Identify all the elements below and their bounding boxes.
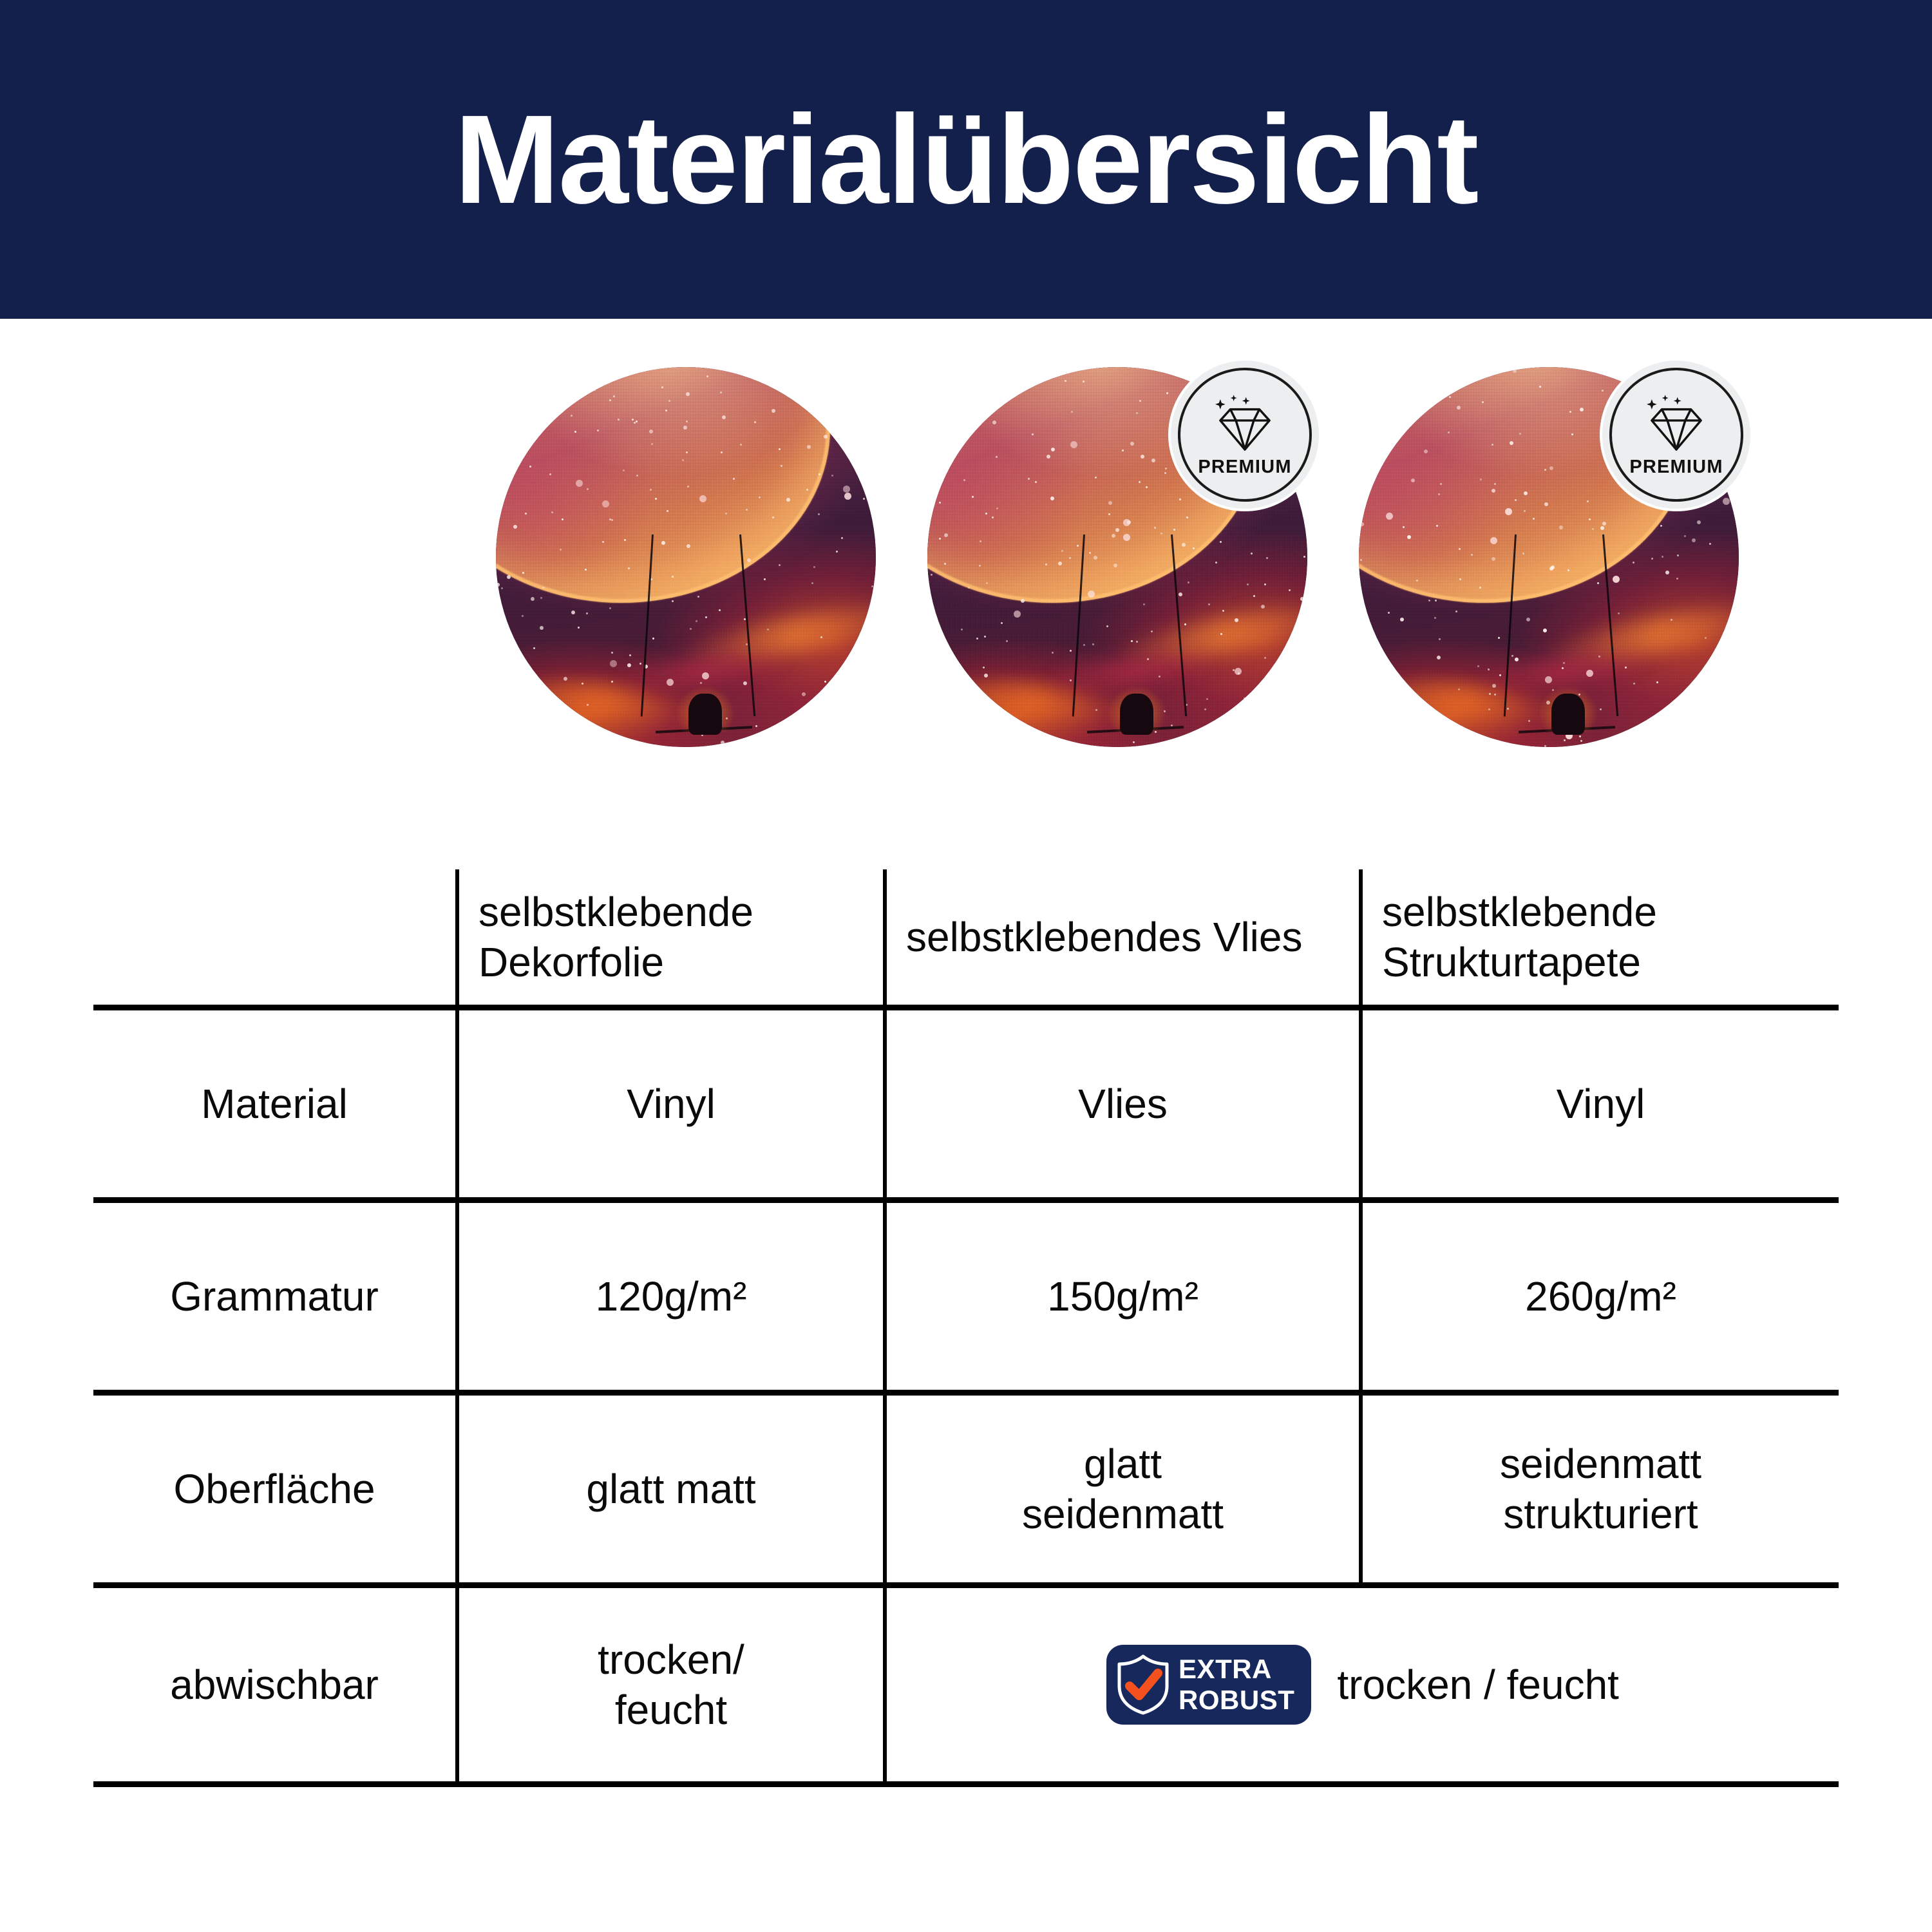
cell-abwischbar-merged: EXTRA ROBUST trocken / feucht (885, 1586, 1839, 1785)
cell-grammatur-strukturtapete: 260g/m² (1361, 1200, 1839, 1393)
canvas-weave-texture (496, 367, 876, 747)
cell-oberflaeche-vlies: glattseidenmatt (885, 1393, 1361, 1586)
table-header-row: selbstklebende Dekorfolie selbstklebende… (93, 869, 1839, 1008)
swatch-dekorfolie[interactable] (496, 367, 876, 747)
cell-material-dekorfolie: Vinyl (457, 1008, 885, 1200)
row-label-oberflaeche: Oberfläche (93, 1393, 457, 1586)
page-title: Materialübersicht (455, 97, 1478, 223)
table-corner-cell (93, 869, 457, 1008)
row-label-grammatur: Grammatur (93, 1200, 457, 1393)
diamond-icon (1211, 393, 1278, 455)
premium-badge-label: PREMIUM (1629, 458, 1723, 477)
table-row: Material Vinyl Vlies Vinyl (93, 1008, 1839, 1200)
table-row: Grammatur 120g/m² 150g/m² 260g/m² (93, 1200, 1839, 1393)
column-header-strukturtapete: selbstklebende Strukturtapete (1361, 869, 1839, 1008)
cell-material-vlies: Vlies (885, 1008, 1361, 1200)
premium-badge: PREMIUM (1171, 361, 1319, 509)
cell-abwischbar-value: trocken / feucht (1337, 1660, 1619, 1710)
premium-badge-label: PREMIUM (1198, 458, 1291, 477)
diamond-icon (1643, 393, 1710, 455)
extra-robust-badge: EXTRA ROBUST (1106, 1645, 1311, 1725)
column-header-vlies: selbstklebendes Vlies (885, 869, 1361, 1008)
cell-grammatur-dekorfolie: 120g/m² (457, 1200, 885, 1393)
row-label-abwischbar: abwischbar (93, 1586, 457, 1785)
table-row: Oberfläche glatt matt glattseidenmatt se… (93, 1393, 1839, 1586)
cell-abwischbar-dekorfolie: trocken/feucht (457, 1586, 885, 1785)
column-header-dekorfolie: selbstklebende Dekorfolie (457, 869, 885, 1008)
premium-badge: PREMIUM (1602, 361, 1750, 509)
swatch-row: PREMIUM (0, 361, 1932, 760)
material-overview-page: Materialübersicht (0, 0, 1932, 1932)
material-comparison-table: selbstklebende Dekorfolie selbstklebende… (93, 869, 1839, 1787)
robust-badge-line2: ROBUST (1179, 1687, 1294, 1714)
cell-material-strukturtapete: Vinyl (1361, 1008, 1839, 1200)
cell-oberflaeche-strukturtapete: seidenmattstrukturiert (1361, 1393, 1839, 1586)
cell-grammatur-vlies: 150g/m² (885, 1200, 1361, 1393)
cell-oberflaeche-dekorfolie: glatt matt (457, 1393, 885, 1586)
artwork-circle-1 (496, 367, 876, 747)
page-header: Materialübersicht (0, 0, 1932, 319)
shield-check-icon (1115, 1654, 1171, 1716)
swatch-vlies[interactable]: PREMIUM (927, 367, 1307, 747)
swatch-strukturtapete[interactable]: PREMIUM (1359, 367, 1739, 747)
robust-badge-line1: EXTRA (1179, 1656, 1272, 1683)
table-row: abwischbar trocken/feucht EXTRA ROBUST (93, 1586, 1839, 1785)
row-label-material: Material (93, 1008, 457, 1200)
